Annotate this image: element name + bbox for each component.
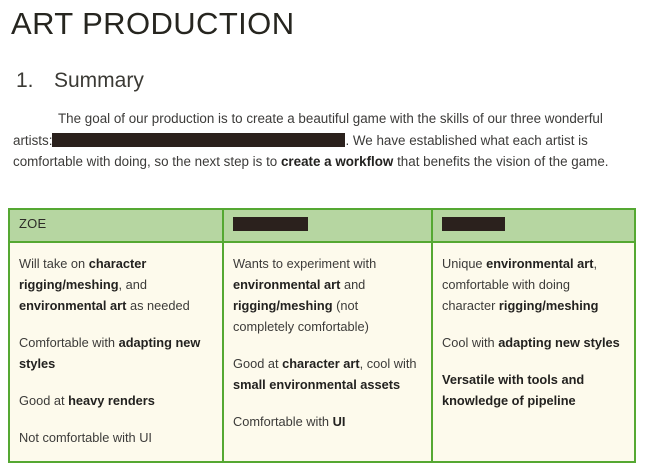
table-row: Will take on character rigging/meshing, … [10, 242, 634, 461]
note-item: Comfortable with adapting new styles [19, 332, 212, 374]
note-text: as needed [126, 298, 189, 313]
note-text: , cool with [360, 356, 417, 371]
section-heading: 1.Summary [16, 68, 144, 93]
note-text: Unique [442, 256, 486, 271]
note-emphasis: environmental art [233, 277, 340, 292]
note-item: Comfortable with UI [233, 411, 421, 432]
redacted-names-bar [52, 133, 345, 147]
note-emphasis: adapting new styles [498, 335, 620, 350]
note-emphasis: environmental art [19, 298, 126, 313]
note-emphasis: Versatile with tools and knowledge of pi… [442, 372, 584, 408]
note-item: Versatile with tools and knowledge of pi… [442, 369, 624, 411]
table-header-row: ZOE [10, 210, 634, 242]
section-number: 1. [16, 68, 54, 93]
note-text: and [340, 277, 365, 292]
redacted-artist-name-2-bar [233, 217, 308, 231]
note-item: Not comfortable with UI [19, 427, 212, 448]
note-text: Wants to experiment with [233, 256, 376, 271]
note-emphasis: rigging/meshing [499, 298, 599, 313]
notes-list-artist-1: Will take on character rigging/meshing, … [10, 243, 222, 454]
document-page: ART PRODUCTION 1.Summary The goal of our… [0, 0, 651, 471]
summary-paragraph: The goal of our production is to create … [13, 108, 639, 173]
page-title: ART PRODUCTION [11, 6, 294, 42]
notes-list-artist-2: Wants to experiment with environmental a… [224, 243, 431, 438]
note-text: Not comfortable with UI [19, 430, 152, 445]
note-item: Wants to experiment with environmental a… [233, 253, 421, 337]
table-cell-notes-artist-3: Unique environmental art, comfortable wi… [432, 242, 634, 461]
table: ZOE Will [10, 210, 634, 461]
note-emphasis: environmental art [486, 256, 593, 271]
note-item: Unique environmental art, comfortable wi… [442, 253, 624, 316]
note-text: Good at [233, 356, 282, 371]
note-text: Good at [19, 393, 68, 408]
note-text: Cool with [442, 335, 498, 350]
note-item: Good at heavy renders [19, 390, 212, 411]
note-emphasis: rigging/meshing [233, 298, 333, 313]
section-heading-label: Summary [54, 69, 144, 92]
table-header-cell-artist-3 [432, 210, 634, 242]
note-text: , and [119, 277, 147, 292]
note-emphasis: UI [333, 414, 346, 429]
note-text: Comfortable with [19, 335, 119, 350]
paragraph-text-part-3: that benefits the vision of the game. [393, 154, 608, 169]
table-cell-notes-artist-2: Wants to experiment with environmental a… [223, 242, 432, 461]
note-emphasis: heavy renders [68, 393, 155, 408]
paragraph-bold-phrase: create a workflow [281, 154, 393, 169]
artist-capability-table: ZOE Will [8, 208, 636, 463]
table-body: Will take on character rigging/meshing, … [10, 242, 634, 461]
note-emphasis: small environmental assets [233, 377, 400, 392]
note-emphasis: character art [282, 356, 360, 371]
notes-list-artist-3: Unique environmental art, comfortable wi… [433, 243, 634, 417]
note-item: Cool with adapting new styles [442, 332, 624, 353]
note-item: Will take on character rigging/meshing, … [19, 253, 212, 316]
artist-name-2-wrapper [224, 210, 431, 231]
table-header-cell-artist-1: ZOE [10, 210, 223, 242]
note-text: Comfortable with [233, 414, 333, 429]
artist-name-zoe: ZOE [10, 210, 222, 230]
note-text: Will take on [19, 256, 89, 271]
table-header-cell-artist-2 [223, 210, 432, 242]
artist-name-3-wrapper [433, 210, 634, 231]
table-cell-notes-artist-1: Will take on character rigging/meshing, … [10, 242, 223, 461]
redacted-artist-name-3-bar [442, 217, 505, 231]
note-item: Good at character art, cool with small e… [233, 353, 421, 395]
